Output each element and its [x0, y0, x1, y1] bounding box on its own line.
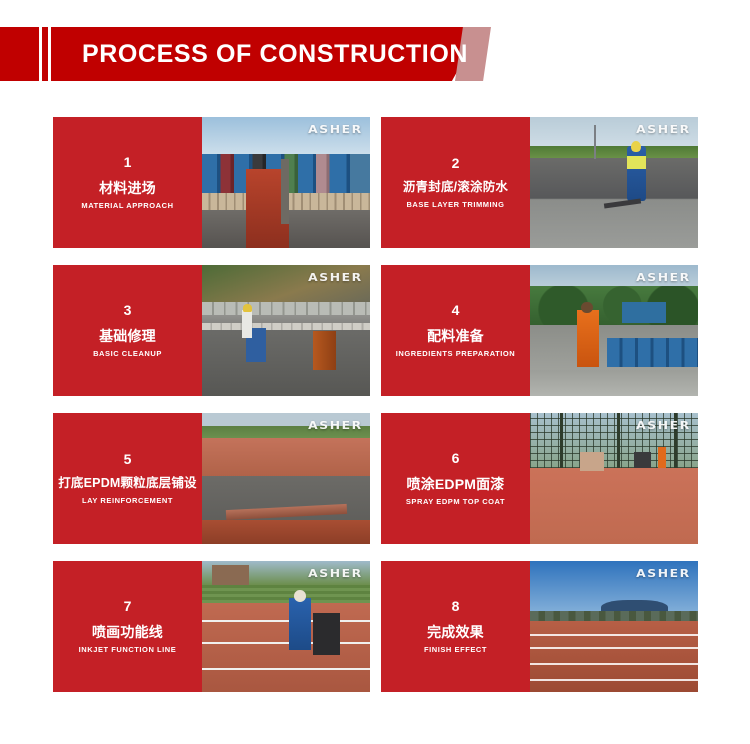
process-step-card[interactable]: 5 打底EPDM颗粒底层铺设 LAY REINFORCEMENT ASHER [53, 413, 370, 544]
watermark-logo: ASHER [637, 271, 691, 284]
step-text-panel: 2 沥青封底/滚涂防水 BASE LAYER TRIMMING [381, 117, 530, 248]
page-header: PROCESS OF CONSTRUCTION [0, 27, 750, 81]
step-title-en: INGREDIENTS PREPARATION [396, 350, 515, 358]
page-title: PROCESS OF CONSTRUCTION [82, 27, 468, 81]
photo-scene [202, 561, 370, 692]
step-number: 5 [124, 452, 132, 467]
step-title-en: MATERIAL APPROACH [81, 202, 173, 210]
step-title-en: SPRAY EDPM TOP COAT [406, 498, 505, 506]
step-title-cn: 材料进场 [99, 180, 156, 196]
step-title-cn: 配料准备 [427, 328, 484, 344]
step-title-en: BASIC CLEANUP [93, 350, 162, 358]
step-photo: ASHER [202, 561, 370, 692]
step-photo: ASHER [202, 413, 370, 544]
step-photo: ASHER [202, 265, 370, 396]
watermark-logo: ASHER [309, 567, 363, 580]
watermark-logo: ASHER [309, 419, 363, 432]
header-accent-block [0, 27, 36, 81]
process-step-card[interactable]: 4 配料准备 INGREDIENTS PREPARATION ASHER [381, 265, 698, 396]
step-text-panel: 5 打底EPDM颗粒底层铺设 LAY REINFORCEMENT [53, 413, 202, 544]
step-title-cn: 完成效果 [427, 624, 484, 640]
step-text-panel: 6 喷涂EDPM面漆 SPRAY EDPM TOP COAT [381, 413, 530, 544]
step-number: 7 [124, 599, 132, 614]
step-title-en: LAY REINFORCEMENT [82, 497, 173, 505]
watermark-logo: ASHER [637, 123, 691, 136]
header-stripe-2 [48, 27, 51, 81]
step-title-cn: 基础修理 [99, 328, 156, 344]
step-title-cn: 沥青封底/滚涂防水 [403, 180, 508, 194]
step-photo: ASHER [530, 117, 698, 248]
photo-scene [202, 265, 370, 396]
step-text-panel: 4 配料准备 INGREDIENTS PREPARATION [381, 265, 530, 396]
step-title-en: INKJET FUNCTION LINE [79, 646, 177, 654]
watermark-logo: ASHER [637, 567, 691, 580]
header-stripe-1 [39, 27, 42, 81]
step-photo: ASHER [530, 265, 698, 396]
step-number: 4 [452, 303, 460, 318]
step-title-cn: 喷涂EDPM面漆 [406, 476, 504, 492]
process-step-card[interactable]: 3 基础修理 BASIC CLEANUP ASHER [53, 265, 370, 396]
step-text-panel: 7 喷画功能线 INKJET FUNCTION LINE [53, 561, 202, 692]
process-step-card[interactable]: 8 完成效果 FINISH EFFECT ASHER [381, 561, 698, 692]
step-photo: ASHER [530, 561, 698, 692]
step-title-cn: 喷画功能线 [92, 624, 163, 640]
watermark-logo: ASHER [637, 419, 691, 432]
process-step-card[interactable]: 2 沥青封底/滚涂防水 BASE LAYER TRIMMING ASHER [381, 117, 698, 248]
step-text-panel: 8 完成效果 FINISH EFFECT [381, 561, 530, 692]
step-title-en: BASE LAYER TRIMMING [406, 201, 504, 209]
process-step-card[interactable]: 6 喷涂EDPM面漆 SPRAY EDPM TOP COAT ASHER [381, 413, 698, 544]
process-step-card[interactable]: 7 喷画功能线 INKJET FUNCTION LINE ASHER [53, 561, 370, 692]
step-text-panel: 3 基础修理 BASIC CLEANUP [53, 265, 202, 396]
photo-scene [202, 413, 370, 544]
step-text-panel: 1 材料进场 MATERIAL APPROACH [53, 117, 202, 248]
photo-scene [202, 117, 370, 248]
process-step-grid: 1 材料进场 MATERIAL APPROACH ASHER 2 沥青封底/滚涂… [53, 117, 698, 691]
photo-scene [530, 265, 698, 396]
step-number: 1 [124, 155, 132, 170]
watermark-logo: ASHER [309, 271, 363, 284]
process-step-card[interactable]: 1 材料进场 MATERIAL APPROACH ASHER [53, 117, 370, 248]
step-number: 3 [124, 303, 132, 318]
photo-scene [530, 413, 698, 544]
step-title-en: FINISH EFFECT [424, 646, 487, 654]
step-photo: ASHER [202, 117, 370, 248]
step-number: 6 [452, 451, 460, 466]
step-number: 8 [452, 599, 460, 614]
step-photo: ASHER [530, 413, 698, 544]
watermark-logo: ASHER [309, 123, 363, 136]
step-number: 2 [452, 156, 460, 171]
photo-scene [530, 117, 698, 248]
photo-scene [530, 561, 698, 692]
step-title-cn: 打底EPDM颗粒底层铺设 [58, 476, 197, 490]
